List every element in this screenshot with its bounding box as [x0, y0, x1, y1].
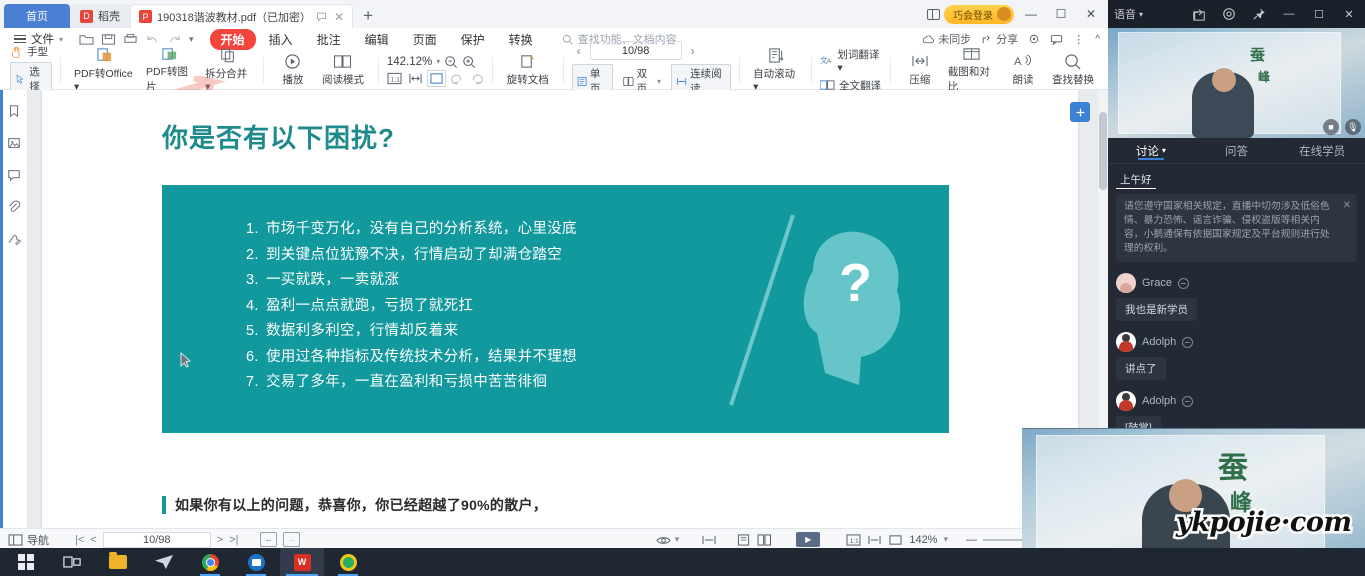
- hand-tool-button[interactable]: 手型: [10, 44, 52, 59]
- word-translate-icon: 文A: [820, 54, 833, 67]
- chrome-button[interactable]: [188, 548, 232, 576]
- play-label: 播放: [282, 72, 303, 87]
- language-selector[interactable]: 语音 ▾: [1114, 6, 1143, 22]
- screenshot-compare-button[interactable]: 截图和对比: [943, 44, 1000, 95]
- svg-text:?: ?: [839, 253, 872, 313]
- qat-more-icon[interactable]: ▾: [189, 34, 194, 45]
- question-mark-illustration: ?: [721, 205, 911, 415]
- pdf-to-office-label: PDF转Office ▾: [74, 66, 134, 93]
- mail-icon: [248, 554, 265, 571]
- status-page-indicator[interactable]: 10/98: [103, 532, 211, 548]
- tab-close-icon[interactable]: ✕: [334, 10, 344, 24]
- globe-icon: [340, 554, 357, 571]
- rotate-document-button[interactable]: 旋转文档: [501, 52, 555, 88]
- tab-qa[interactable]: 问答: [1194, 143, 1280, 159]
- chat-user-name: Adolph: [1142, 395, 1176, 407]
- browser-tab-strip: 首页 D 稻壳 P 190318谐波教材.pdf（已加密） ✕ +: [0, 0, 1108, 28]
- document-work-area: 你是否有以下困扰? 1.市场千变万化，没有自己的分析系统，心里没底 2.到关键点…: [0, 90, 1108, 528]
- accent-bar: [162, 496, 166, 514]
- more-options-icon[interactable]: ⋮: [1073, 33, 1085, 46]
- globe-app-button[interactable]: [326, 548, 370, 576]
- pdf-to-office-button[interactable]: PDF转Office ▾: [69, 46, 139, 94]
- split-merge-button[interactable]: 拆分合并 ▾: [200, 46, 255, 94]
- word-translate-label: 划词翻译 ▾: [837, 47, 882, 74]
- single-page-icon: [577, 76, 587, 87]
- status-bar: 导航 |< < 10/98 > >| ← → ▾ ▶ 1:1: [0, 528, 1108, 548]
- eye-protection-button[interactable]: ▾: [656, 534, 680, 546]
- tab-docer[interactable]: D 稻壳: [70, 4, 130, 28]
- cloud-icon: [922, 34, 935, 45]
- docer-icon: D: [80, 10, 93, 23]
- auto-scroll-label: 自动滚动 ▾: [753, 66, 798, 93]
- continuous-read-icon: [676, 76, 687, 87]
- mouse-cursor: [180, 352, 192, 369]
- avatar: [1116, 332, 1136, 352]
- tab-discussion-label: 讨论: [1136, 143, 1159, 159]
- fit-width-status-icon[interactable]: [701, 534, 717, 546]
- open-folder-icon[interactable]: [79, 33, 94, 46]
- print-icon[interactable]: [123, 33, 138, 46]
- avatar: [1116, 273, 1136, 293]
- tab-home-label: 首页: [26, 8, 48, 24]
- svg-text:1:1: 1:1: [391, 76, 400, 83]
- page-title: 你是否有以下困扰?: [162, 118, 395, 155]
- task-view-button[interactable]: [50, 548, 94, 576]
- scrollbar-thumb[interactable]: [1099, 112, 1107, 190]
- tab-docer-label: 稻壳: [98, 8, 120, 24]
- split-merge-label: 拆分合并 ▾: [205, 66, 250, 93]
- mute-icon[interactable]: [1178, 278, 1189, 289]
- chat-message: Adolph 讲点了: [1116, 332, 1357, 380]
- bookmark-icon[interactable]: [7, 104, 21, 123]
- read-aloud-icon: A: [1014, 53, 1032, 70]
- menu-tab-annotate[interactable]: 批注: [306, 29, 352, 50]
- hamburger-icon: [14, 35, 26, 44]
- navigation-toggle[interactable]: 导航: [8, 532, 49, 548]
- auto-scroll-button[interactable]: 自动滚动 ▾: [748, 46, 803, 94]
- chevron-down-icon: ▾: [59, 35, 63, 44]
- compliance-notice: 请您遵守国家相关规定，直播中切勿涉及低俗色情、暴力恐怖、谣言诈骗、侵权盗版等相关…: [1116, 194, 1357, 262]
- language-label: 语音: [1114, 6, 1136, 22]
- mute-icon[interactable]: [1182, 396, 1193, 407]
- tab-home[interactable]: 首页: [4, 4, 70, 28]
- single-page-status-icon[interactable]: [737, 534, 751, 546]
- footer-text: 如果你有以上的问题，恭喜你，你已经超越了90%的散户，: [175, 495, 547, 515]
- windows-logo-icon: [18, 554, 34, 570]
- read-aloud-label: 朗读: [1012, 72, 1033, 87]
- play-button[interactable]: 播放: [272, 52, 314, 88]
- sidebar-toggle-icon[interactable]: [927, 9, 940, 20]
- read-mode-button[interactable]: 阅读模式: [316, 52, 370, 88]
- pdf-to-image-icon: [161, 45, 178, 62]
- zoom-value[interactable]: 142.12%: [387, 56, 432, 68]
- comment-icon[interactable]: [316, 11, 327, 22]
- fit-width-icon[interactable]: [408, 72, 423, 85]
- rotate-right-icon[interactable]: [470, 72, 484, 85]
- presenter-head: [1212, 68, 1236, 92]
- svg-text:1:1: 1:1: [850, 537, 859, 544]
- signature-icon[interactable]: [7, 232, 21, 251]
- close-icon[interactable]: ✕: [1343, 199, 1351, 213]
- chat-user-name: Grace: [1142, 277, 1172, 289]
- word-translate-button[interactable]: 文A 划词翻译 ▾: [820, 47, 882, 74]
- actual-size-status-icon[interactable]: 1:1: [846, 534, 861, 546]
- save-icon[interactable]: [101, 33, 116, 46]
- feedback-icon[interactable]: [1050, 34, 1063, 45]
- first-page-button[interactable]: |<: [75, 534, 84, 546]
- minimize-button[interactable]: —: [1018, 3, 1044, 25]
- read-mode-label: 阅读模式: [322, 72, 364, 87]
- left-sidebar-rail: [0, 90, 28, 528]
- compress-label: 压缩: [909, 72, 930, 87]
- live-maximize-button[interactable]: ☐: [1305, 0, 1333, 28]
- split-merge-icon: [220, 47, 236, 64]
- chat-user-name: Adolph: [1142, 336, 1176, 348]
- chat-message: Grace 我也是新学员: [1116, 273, 1357, 321]
- menu-tab-insert[interactable]: 插入: [258, 29, 304, 50]
- board-text: 峰: [1258, 68, 1270, 85]
- pdf-to-office-icon: [96, 47, 113, 64]
- footer-callout: 如果你有以上的问题，恭喜你，你已经超越了90%的散户，: [162, 495, 547, 515]
- select-tool-label: 选择: [29, 64, 47, 94]
- tab-qa-label: 问答: [1225, 143, 1248, 159]
- actual-size-icon[interactable]: 1:1: [387, 72, 402, 85]
- task-view-icon: [63, 555, 81, 569]
- fly-app-button[interactable]: [142, 548, 186, 576]
- floating-tool-badge[interactable]: [1070, 102, 1090, 122]
- chevron-down-icon: ▾: [1162, 146, 1166, 155]
- navigation-label: 导航: [27, 532, 49, 548]
- tab-online-students-label: 在线学员: [1299, 143, 1345, 159]
- last-page-button[interactable]: >|: [229, 534, 238, 546]
- zoom-minus-button[interactable]: —: [966, 534, 977, 546]
- paper-plane-icon: [155, 555, 173, 569]
- go-forward-icon[interactable]: →: [283, 532, 300, 547]
- new-tab-button[interactable]: +: [353, 6, 383, 28]
- find-replace-button[interactable]: 查找替换: [1046, 52, 1100, 88]
- microphone-icon[interactable]: 🎙: [1345, 119, 1361, 135]
- play-icon: [284, 53, 301, 70]
- screenshot-compare-icon: [962, 45, 981, 62]
- live-titlebar: 语音 ▾ — ☐ ✕: [1108, 0, 1365, 28]
- cursor-icon: [15, 73, 25, 85]
- rotate-document-icon: [519, 53, 536, 70]
- tab-discussion[interactable]: 讨论 ▾: [1108, 143, 1194, 159]
- zoom-out-icon[interactable]: [444, 55, 458, 69]
- double-page-icon: [623, 76, 634, 87]
- gear-icon[interactable]: [1028, 33, 1040, 45]
- next-page-button[interactable]: >: [217, 534, 223, 546]
- start-button[interactable]: [4, 548, 48, 576]
- wps-pdf-window: 首页 D 稻壳 P 190318谐波教材.pdf（已加密） ✕ +: [0, 0, 1108, 548]
- target-icon[interactable]: [1215, 0, 1243, 28]
- avatar: [997, 7, 1011, 21]
- double-page-status-icon[interactable]: [757, 534, 772, 546]
- comment-icon[interactable]: [7, 168, 21, 187]
- read-mode-icon: [333, 53, 352, 70]
- camera-icon[interactable]: ■: [1323, 119, 1339, 135]
- find-replace-label: 查找替换: [1052, 72, 1094, 87]
- menu-tab-protect[interactable]: 保护: [450, 29, 496, 50]
- svg-text:A: A: [827, 58, 832, 65]
- site-watermark: ykpojie·com: [1176, 507, 1351, 538]
- hand-tool-label: 手型: [27, 44, 48, 59]
- compress-icon: [911, 53, 929, 70]
- status-zoom-value[interactable]: 142%: [909, 534, 937, 546]
- fit-page-icon[interactable]: [429, 72, 444, 85]
- fit-visible-status-icon[interactable]: [888, 534, 903, 546]
- chat-tab-bar: 讨论 ▾ 问答 在线学员: [1108, 138, 1365, 164]
- tab-document-label: 190318谐波教材.pdf（已加密）: [157, 9, 311, 25]
- zoom-dropdown-icon[interactable]: ▾: [436, 57, 440, 66]
- live-minimize-button[interactable]: —: [1275, 0, 1303, 28]
- fit-page-status-icon[interactable]: [867, 534, 882, 546]
- video-controls[interactable]: ■ 🎙: [1323, 119, 1361, 135]
- windows-taskbar: W: [0, 548, 1365, 576]
- chat-message-text: 讲点了: [1116, 357, 1166, 380]
- login-button[interactable]: 巧会登录: [944, 5, 1014, 24]
- svg-text:A: A: [1014, 56, 1022, 68]
- document-scroll-area[interactable]: 你是否有以下困扰? 1.市场千变万化，没有自己的分析系统，心里没底 2.到关键点…: [28, 90, 1108, 528]
- pin-icon[interactable]: [1245, 0, 1273, 28]
- notice-text: 请您遵守国家相关规定，直播中切勿涉及低俗色情、暴力恐怖、谣言诈骗、侵权盗版等相关…: [1124, 201, 1330, 254]
- prev-page-button[interactable]: <: [90, 534, 96, 546]
- eye-icon: [656, 534, 671, 546]
- wps-office-button[interactable]: W: [280, 548, 324, 576]
- attachment-icon[interactable]: [7, 200, 21, 219]
- share-icon[interactable]: [1185, 0, 1213, 28]
- menu-tab-convert[interactable]: 转换: [498, 29, 544, 50]
- auto-scroll-icon: [768, 47, 784, 64]
- prev-page-icon[interactable]: ‹: [572, 44, 586, 58]
- desktop-screen: 首页 D 稻壳 P 190318谐波教材.pdf（已加密） ✕ +: [0, 0, 1365, 576]
- menu-tab-page[interactable]: 页面: [402, 29, 448, 50]
- chat-message-text: 我也是新学员: [1116, 298, 1197, 321]
- close-button[interactable]: ✕: [1078, 3, 1104, 25]
- greeting-label: 上午好: [1116, 171, 1156, 189]
- avatar: [1116, 391, 1136, 411]
- read-aloud-button[interactable]: A 朗读: [1002, 52, 1044, 88]
- zoom-in-icon[interactable]: [462, 55, 476, 69]
- rotate-document-label: 旋转文档: [507, 72, 549, 87]
- mute-icon[interactable]: [1182, 337, 1193, 348]
- collapse-ribbon-icon[interactable]: ^: [1095, 34, 1100, 45]
- pdf-file-icon: P: [139, 10, 152, 23]
- rotate-left-icon[interactable]: [450, 72, 464, 85]
- tab-document[interactable]: P 190318谐波教材.pdf（已加密） ✕: [130, 4, 353, 28]
- file-explorer-button[interactable]: [96, 548, 140, 576]
- login-label: 巧会登录: [953, 7, 993, 22]
- pdf-to-image-button[interactable]: PDF转图片: [141, 44, 198, 95]
- maximize-button[interactable]: ☐: [1048, 3, 1074, 25]
- next-page-icon[interactable]: ›: [686, 44, 700, 58]
- presentation-play-button[interactable]: ▶: [796, 532, 820, 547]
- folder-icon: [109, 555, 127, 569]
- board-text: 蚕: [1250, 44, 1265, 65]
- board-text: 蚕: [1218, 443, 1248, 487]
- ribbon-tabs: 开始 插入 批注 编辑 页面 保护 转换: [210, 29, 544, 50]
- live-close-button[interactable]: ✕: [1335, 0, 1363, 28]
- hand-icon: [10, 45, 23, 58]
- highlight-box: 1.市场千变万化，没有自己的分析系统，心里没底 2.到关键点位犹豫不决，行情启动…: [162, 185, 949, 433]
- chrome-icon: [202, 554, 219, 571]
- ribbon-toolbar: JTA 手型 选择 PDF转Office ▾: [0, 50, 1108, 90]
- thumbnail-icon[interactable]: [7, 136, 21, 155]
- status-zoom-dropdown-icon[interactable]: ▾: [943, 534, 948, 545]
- go-back-icon[interactable]: ←: [260, 532, 277, 547]
- wps-icon: W: [294, 554, 311, 571]
- page-indicator[interactable]: 10/98: [590, 41, 682, 60]
- tab-online-students[interactable]: 在线学员: [1279, 143, 1365, 159]
- navigation-panel-icon: [8, 534, 23, 546]
- share-icon: [981, 34, 993, 45]
- menu-tab-edit[interactable]: 编辑: [354, 29, 400, 50]
- pdf-page: 你是否有以下困扰? 1.市场千变万化，没有自己的分析系统，心里没底 2.到关键点…: [42, 90, 1078, 528]
- mail-app-button[interactable]: [234, 548, 278, 576]
- compress-button[interactable]: 压缩: [899, 52, 941, 88]
- find-replace-icon: [1064, 53, 1081, 70]
- live-video-feed[interactable]: 蚕 峰 ■ 🎙: [1108, 28, 1365, 138]
